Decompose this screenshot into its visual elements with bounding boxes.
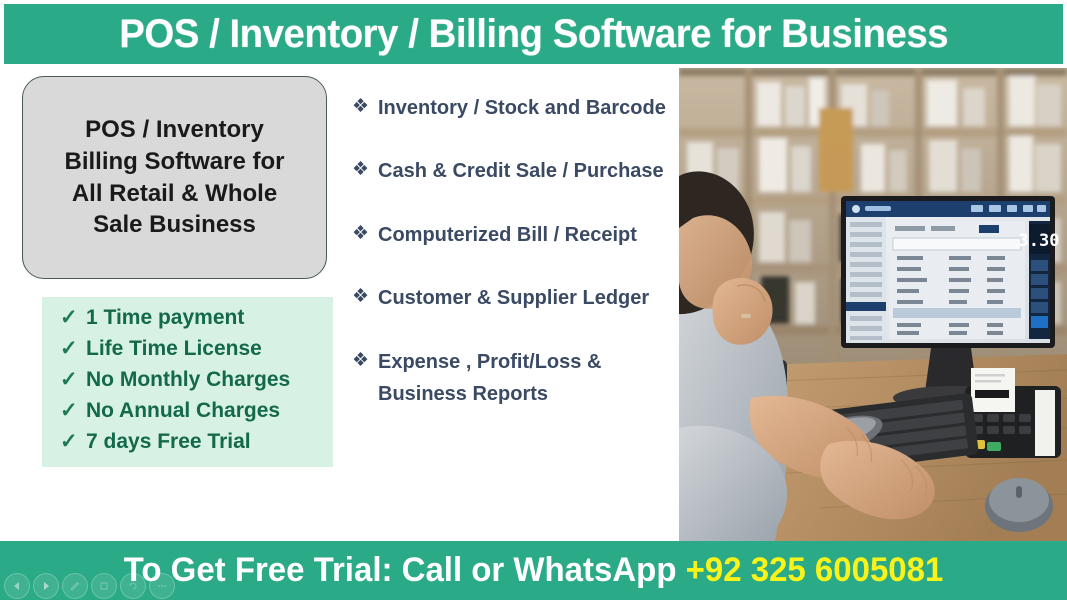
feature-item: ❖ Inventory / Stock and Barcode (352, 92, 672, 124)
benefit-item: ✓ Life Time License (42, 338, 333, 369)
check-mark-icon: ✓ (60, 338, 86, 359)
benefit-item: ✓ 1 Time payment (42, 307, 333, 338)
product-summary-line-3: All Retail & Whole (64, 178, 284, 210)
product-summary-card: POS / Inventory Billing Software for All… (22, 76, 327, 279)
feature-label: Customer & Supplier Ledger (378, 282, 649, 314)
benefit-label: No Annual Charges (86, 400, 280, 421)
benefit-label: Life Time License (86, 338, 262, 359)
feature-label: Expense , Profit/Loss & Business Reports (378, 346, 672, 411)
crop-icon[interactable] (91, 573, 117, 599)
benefit-label: 7 days Free Trial (86, 431, 251, 452)
pos-workstation-photo: 3.30 (679, 68, 1067, 541)
rotate-icon[interactable] (120, 573, 146, 599)
phone-number[interactable]: +92 325 6005081 (686, 551, 944, 589)
feature-label: Inventory / Stock and Barcode (378, 92, 666, 124)
check-mark-icon: ✓ (60, 369, 86, 390)
feature-item: ❖ Customer & Supplier Ledger (352, 282, 672, 314)
check-mark-icon: ✓ (60, 431, 86, 452)
four-diamond-bullet-icon: ❖ (352, 346, 378, 411)
product-summary-line-1: POS / Inventory (64, 114, 284, 146)
header-banner: POS / Inventory / Billing Software for B… (4, 4, 1063, 64)
product-summary-line-4: Sale Business (64, 209, 284, 241)
benefits-card: ✓ 1 Time payment ✓ Life Time License ✓ N… (42, 297, 333, 467)
benefit-label: 1 Time payment (86, 307, 244, 328)
benefit-item: ✓ No Monthly Charges (42, 369, 333, 400)
feature-label: Cash & Credit Sale / Purchase (378, 155, 664, 187)
check-mark-icon: ✓ (60, 307, 86, 328)
edit-pencil-icon[interactable] (62, 573, 88, 599)
page-title: POS / Inventory / Billing Software for B… (119, 12, 948, 57)
benefit-item: ✓ No Annual Charges (42, 400, 333, 431)
advertisement-banner: POS / Inventory / Billing Software for B… (0, 0, 1067, 600)
image-viewer-toolbar[interactable] (4, 571, 184, 600)
feature-item: ❖ Cash & Credit Sale / Purchase (352, 155, 672, 187)
product-summary-text: POS / Inventory Billing Software for All… (54, 114, 294, 242)
check-mark-icon: ✓ (60, 400, 86, 421)
svg-text:3.30: 3.30 (1019, 231, 1060, 251)
feature-list: ❖ Inventory / Stock and Barcode ❖ Cash &… (352, 92, 672, 542)
photo-illustration: 3.30 (679, 68, 1067, 541)
more-options-icon[interactable] (149, 573, 175, 599)
feature-item: ❖ Computerized Bill / Receipt (352, 219, 672, 251)
footer-text: To Get Free Trial: Call or WhatsApp +92 … (124, 551, 944, 590)
benefit-label: No Monthly Charges (86, 369, 290, 390)
four-diamond-bullet-icon: ❖ (352, 219, 378, 251)
feature-label: Computerized Bill / Receipt (378, 219, 637, 251)
product-summary-line-2: Billing Software for (64, 146, 284, 178)
feature-item: ❖ Expense , Profit/Loss & Business Repor… (352, 346, 672, 411)
previous-arrow-icon[interactable] (4, 573, 30, 599)
four-diamond-bullet-icon: ❖ (352, 92, 378, 124)
call-to-action-text: To Get Free Trial: Call or WhatsApp (124, 551, 677, 589)
next-arrow-icon[interactable] (33, 573, 59, 599)
four-diamond-bullet-icon: ❖ (352, 155, 378, 187)
four-diamond-bullet-icon: ❖ (352, 282, 378, 314)
benefit-item: ✓ 7 days Free Trial (42, 431, 333, 462)
